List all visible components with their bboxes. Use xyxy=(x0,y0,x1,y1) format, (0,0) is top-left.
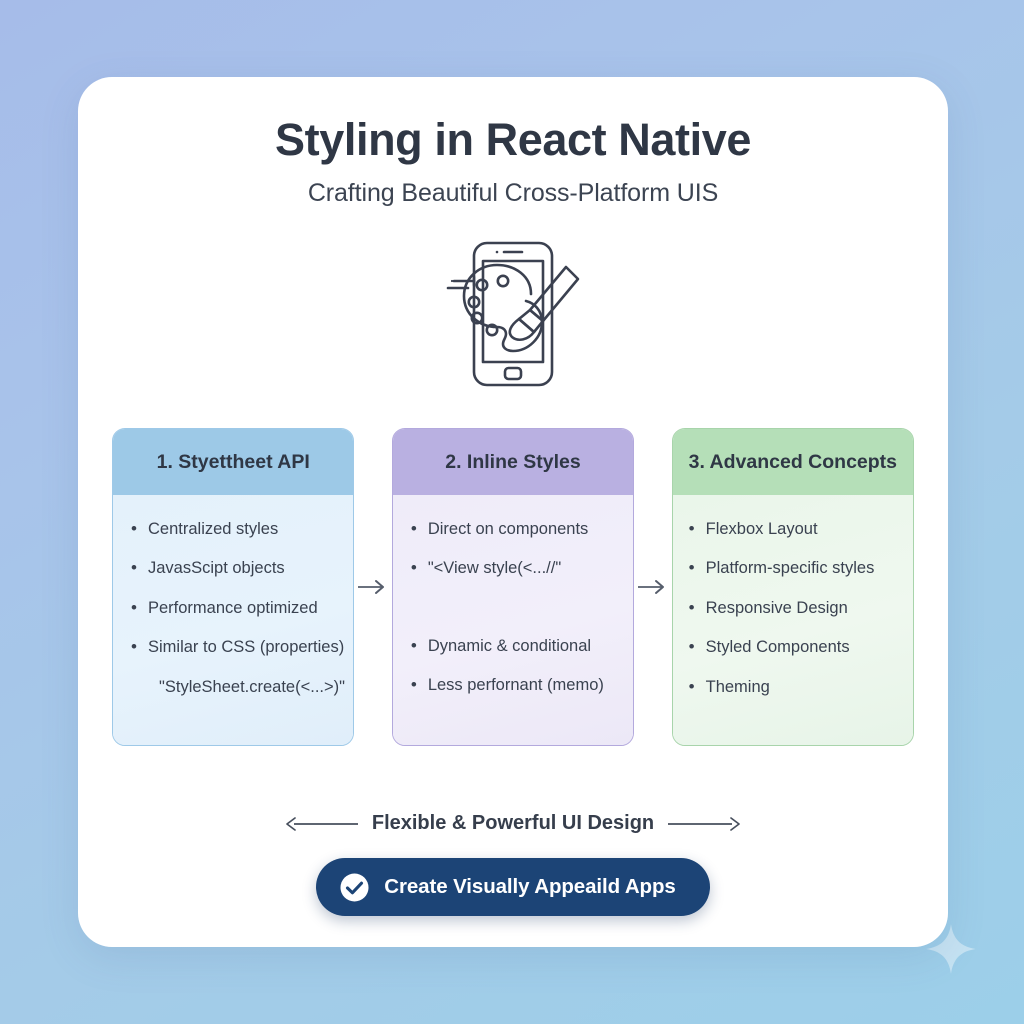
cta-label: Create Visually Appeaild Apps xyxy=(384,875,675,899)
flow-summary: Flexible & Powerful UI Design xyxy=(78,812,948,835)
list-item: Styled Components xyxy=(689,637,899,658)
cta-row: Create Visually Appeaild Apps xyxy=(78,858,948,916)
page-title: Styling in React Native xyxy=(78,115,948,165)
card-advanced-concepts[interactable]: 3. Advanced Concepts Flexbox Layout Plat… xyxy=(672,428,914,746)
list-item: Dynamic & conditional xyxy=(411,636,619,657)
card-body: Flexbox Layout Platform-specific styles … xyxy=(673,495,913,745)
bullet-list: Flexbox Layout Platform-specific styles … xyxy=(689,519,899,698)
bullet-list: Direct on components "<View style(<...//… xyxy=(411,519,619,697)
page-subtitle: Crafting Beautiful Cross-Platform UIS xyxy=(78,179,948,208)
smartphone-palette-paintbrush-icon xyxy=(438,237,588,392)
list-item: Similar to CSS (properties) xyxy=(131,637,339,658)
list-item: Flexbox Layout xyxy=(689,519,899,540)
long-arrow-right-icon xyxy=(668,816,742,832)
arrow-right-icon xyxy=(358,579,388,595)
arrow-right-icon xyxy=(638,579,668,595)
bullet-list: Centralized styles JavasScipt objects Pe… xyxy=(131,519,339,698)
header: Styling in React Native Crafting Beautif… xyxy=(78,77,948,208)
list-item: JavasScipt objects xyxy=(131,558,339,579)
card-body: Centralized styles JavasScipt objects Pe… xyxy=(113,495,353,745)
card-stylesheet-api[interactable]: 1. Styettheet API Centralized styles Jav… xyxy=(112,428,354,746)
concept-columns: 1. Styettheet API Centralized styles Jav… xyxy=(112,428,914,746)
list-item-code: "StyleSheet.create(<...>)" xyxy=(131,677,339,698)
list-item: Performance optimized xyxy=(131,598,339,619)
check-circle-icon xyxy=(340,873,369,902)
card-body: Direct on components "<View style(<...//… xyxy=(393,495,633,745)
list-item: Centralized styles xyxy=(131,519,339,540)
long-arrow-left-icon xyxy=(284,816,358,832)
list-item: Less perfornant (memo) xyxy=(411,675,619,696)
card-heading: 1. Styettheet API xyxy=(113,429,353,495)
list-item: Theming xyxy=(689,677,899,698)
list-item: Direct on components xyxy=(411,519,619,540)
infographic-panel: Styling in React Native Crafting Beautif… xyxy=(78,77,948,947)
create-apps-button[interactable]: Create Visually Appeaild Apps xyxy=(316,858,709,916)
list-item: Responsive Design xyxy=(689,598,899,619)
card-inline-styles[interactable]: 2. Inline Styles Direct on components "<… xyxy=(392,428,634,746)
list-item: Platform-specific styles xyxy=(689,558,899,579)
connector-2 xyxy=(634,428,671,746)
connector-1 xyxy=(354,428,391,746)
flow-label: Flexible & Powerful UI Design xyxy=(372,812,654,835)
list-item-code: "<View style(<...//" xyxy=(411,558,619,579)
hero-illustration xyxy=(78,234,948,394)
card-heading: 3. Advanced Concepts xyxy=(673,429,913,495)
card-heading: 2. Inline Styles xyxy=(393,429,633,495)
